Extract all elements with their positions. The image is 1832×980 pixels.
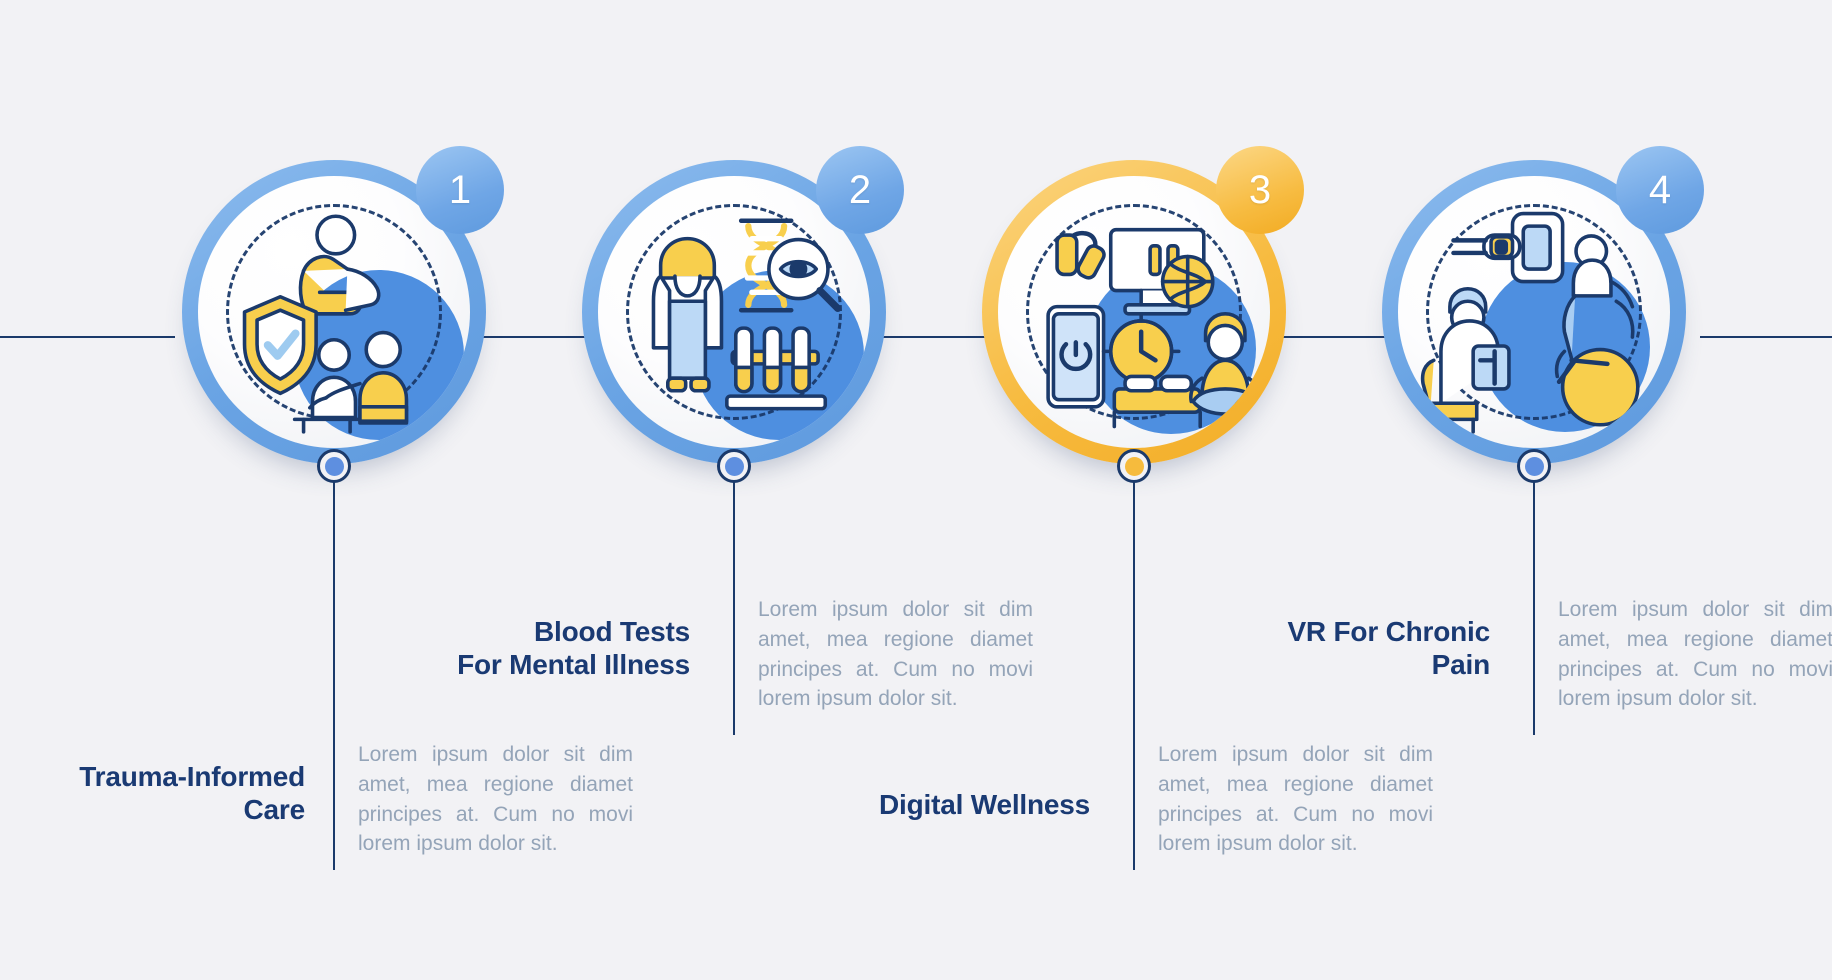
timeline-segment-left [0, 336, 175, 338]
step-title-4: VR For Chronic Pain [1200, 615, 1490, 681]
step-body-3: Lorem ipsum dolor sit dim amet, mea regi… [1158, 740, 1433, 859]
step-title-2: Blood Tests For Mental Illness [400, 615, 690, 681]
step-body-2: Lorem ipsum dolor sit dim amet, mea regi… [758, 595, 1033, 714]
connector-line-1 [333, 470, 335, 870]
step-node-3[interactable]: 3 [982, 160, 1286, 464]
step-dot-1 [317, 449, 351, 483]
step-dot-core-2 [725, 457, 744, 476]
step-badge-2: 2 [816, 146, 904, 234]
step-body-1: Lorem ipsum dolor sit dim amet, mea regi… [358, 740, 633, 859]
step-node-2[interactable]: 2 [582, 160, 886, 464]
step-title-1: Trauma-Informed Care [20, 760, 305, 826]
connector-line-2 [733, 470, 735, 735]
step-dot-core-3 [1125, 457, 1144, 476]
step-dot-2 [717, 449, 751, 483]
step-dot-4 [1517, 449, 1551, 483]
step-dot-core-1 [325, 457, 344, 476]
step-badge-4: 4 [1616, 146, 1704, 234]
connector-line-3 [1133, 470, 1135, 870]
step-badge-3: 3 [1216, 146, 1304, 234]
infographic-canvas: 1 [0, 0, 1832, 980]
step-dot-core-4 [1525, 457, 1544, 476]
timeline-segment-right [1700, 336, 1832, 338]
step-body-4: Lorem ipsum dolor sit dim amet, mea regi… [1558, 595, 1832, 714]
step-dot-3 [1117, 449, 1151, 483]
step-title-3: Digital Wellness [800, 788, 1090, 821]
step-node-4[interactable]: 4 [1382, 160, 1686, 464]
step-badge-1: 1 [416, 146, 504, 234]
step-node-1[interactable]: 1 [182, 160, 486, 464]
connector-line-4 [1533, 470, 1535, 735]
